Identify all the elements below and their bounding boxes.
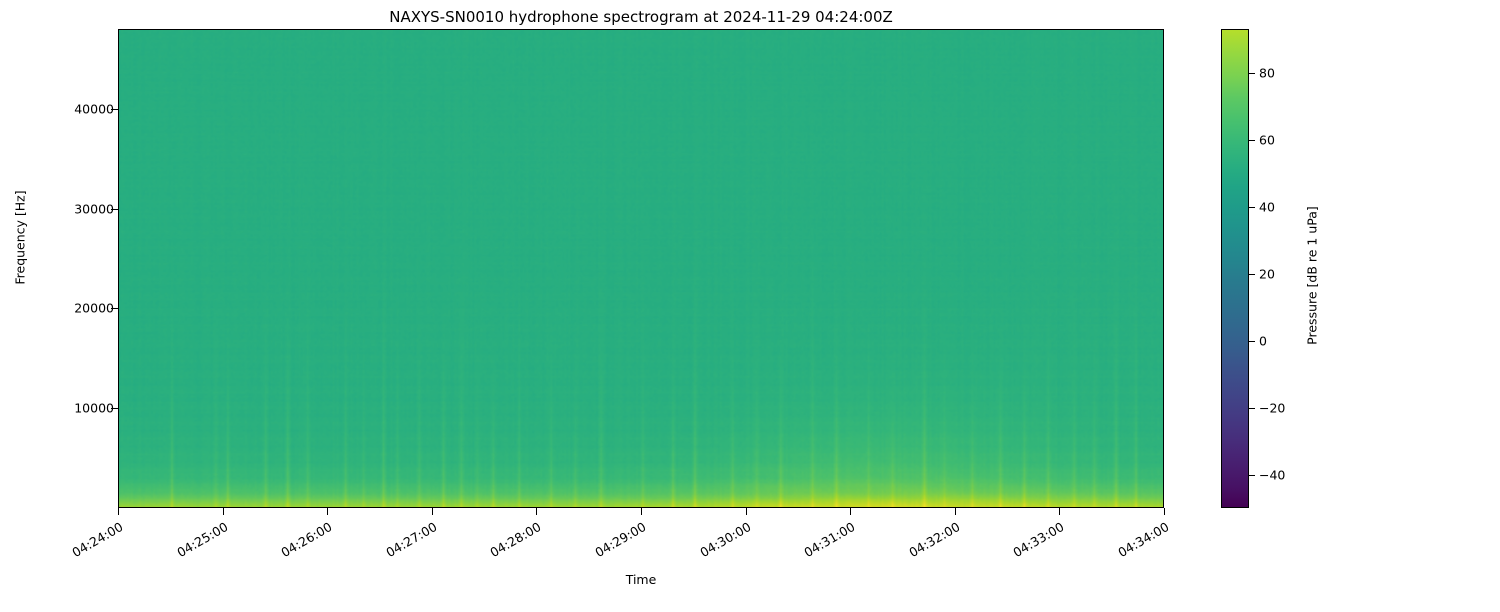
colorbar-tick-mark [1249,274,1255,275]
colorbar-tick-label: 60 [1259,132,1275,147]
x-tick-mark [1164,508,1165,515]
colorbar-tick-mark [1249,341,1255,342]
spectrogram-canvas [119,30,1163,507]
x-tick-mark [432,508,433,515]
colorbar-tick-mark [1249,73,1255,74]
x-tick-mark [850,508,851,515]
spectrogram-image [119,30,1163,507]
x-tick-mark [223,508,224,515]
y-tick-label: 10000 [74,401,114,416]
colorbar-tick-label: −40 [1259,467,1285,482]
x-tick-mark [746,508,747,515]
x-tick-mark [641,508,642,515]
colorbar-tick-label: 20 [1259,266,1275,281]
colorbar-label: Pressure [dB re 1 uPa] [1305,116,1320,436]
x-tick-mark [955,508,956,515]
y-tick-label: 20000 [74,301,114,316]
colorbar-tick-label: 80 [1259,65,1275,80]
colorbar [1221,29,1249,508]
colorbar-tick-label: 0 [1259,333,1267,348]
colorbar-tick-label: 40 [1259,199,1275,214]
figure-title: NAXYS-SN0010 hydrophone spectrogram at 2… [118,8,1164,26]
colorbar-tick-mark [1249,475,1255,476]
y-tick-label: 30000 [74,201,114,216]
colorbar-tick-label: −20 [1259,400,1285,415]
colorbar-tick-mark [1249,140,1255,141]
x-tick-mark [1059,508,1060,515]
x-tick-mark [118,508,119,515]
y-axis-label: Frequency [Hz] [13,78,28,398]
spectrogram-plot-area [118,29,1164,508]
spectrogram-figure: NAXYS-SN0010 hydrophone spectrogram at 2… [0,0,1500,600]
x-axis-label: Time [118,572,1164,587]
x-tick-mark [536,508,537,515]
colorbar-tick-mark [1249,207,1255,208]
y-tick-label: 40000 [74,101,114,116]
colorbar-tick-mark [1249,408,1255,409]
x-tick-mark [327,508,328,515]
